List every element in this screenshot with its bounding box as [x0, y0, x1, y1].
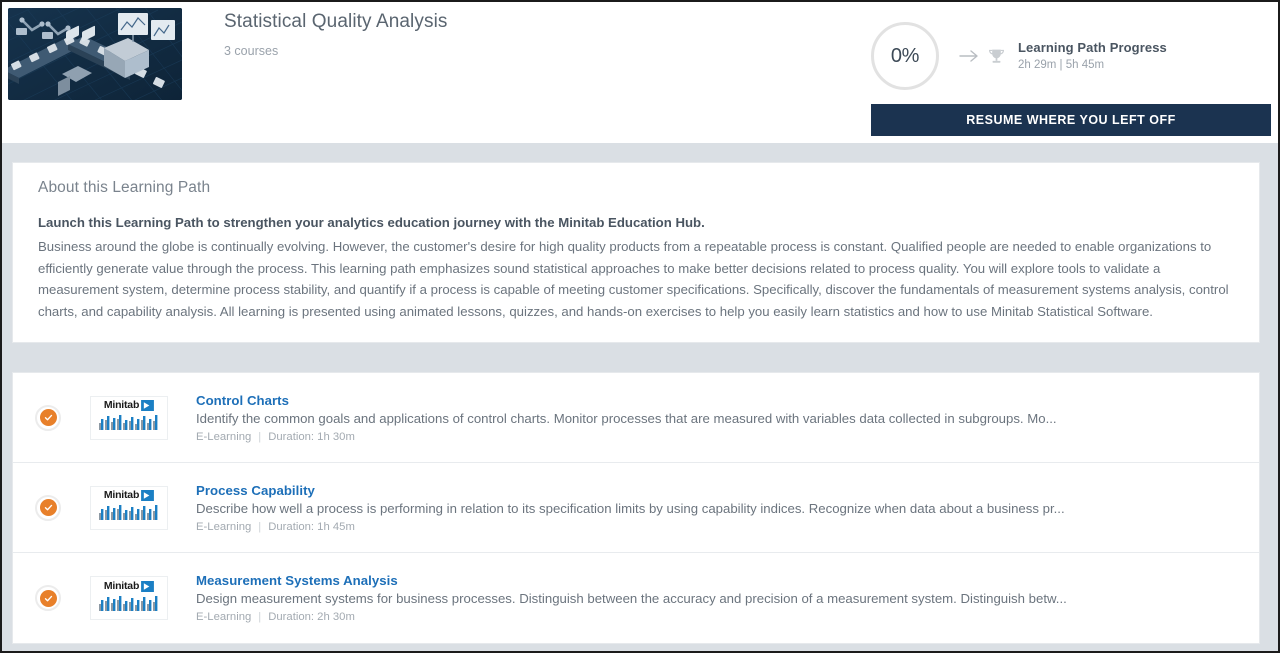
course-meta: E-Learning | Duration: 1h 30m: [196, 431, 1239, 443]
course-list: Minitab: [12, 372, 1260, 644]
course-row[interactable]: Minitab: [13, 373, 1259, 463]
course-title[interactable]: Measurement Systems Analysis: [196, 573, 1239, 588]
progress-time: 2h 29m | 5h 45m: [1018, 58, 1167, 72]
learning-path-progress: 0% Learning Path Progress 2h 29m | 5h 45: [871, 22, 1167, 90]
course-type: E-Learning: [196, 521, 251, 533]
course-duration: Duration: 1h 45m: [268, 521, 355, 533]
course-type: E-Learning: [196, 611, 251, 623]
minitab-wordmark: Minitab: [104, 400, 139, 411]
course-title[interactable]: Control Charts: [196, 393, 1239, 408]
resume-button[interactable]: RESUME WHERE YOU LEFT OFF: [871, 104, 1271, 136]
minitab-wordmark: Minitab: [104, 581, 139, 592]
minitab-bar-graphic: [97, 414, 161, 435]
check-circle-icon: [35, 585, 61, 611]
about-heading: About this Learning Path: [38, 179, 1234, 197]
learning-path-thumbnail: [8, 8, 182, 100]
course-meta: E-Learning | Duration: 1h 45m: [196, 521, 1239, 533]
page-title: Statistical Quality Analysis: [224, 11, 448, 33]
page-header: Statistical Quality Analysis 3 courses 0…: [2, 2, 1278, 143]
meta-separator: |: [258, 431, 261, 443]
minitab-wordmark: Minitab: [104, 490, 139, 501]
minitab-chevron-icon: [141, 490, 154, 501]
progress-ring: 0%: [871, 22, 939, 90]
meta-separator: |: [258, 521, 261, 533]
check-circle-icon: [35, 405, 61, 431]
course-description: Identify the common goals and applicatio…: [196, 411, 1239, 426]
course-meta: E-Learning | Duration: 2h 30m: [196, 611, 1239, 623]
isometric-factory-illustration: [8, 8, 182, 100]
check-circle-icon: [35, 495, 61, 521]
course-row[interactable]: Minitab: [13, 463, 1259, 553]
meta-separator: |: [258, 611, 261, 623]
minitab-bar-graphic: [97, 504, 161, 525]
course-duration: Duration: 1h 30m: [268, 431, 355, 443]
minitab-logo: Minitab: [90, 576, 168, 620]
trophy-icon: [987, 47, 1006, 66]
about-body-text: Business around the globe is continually…: [38, 236, 1234, 322]
course-type: E-Learning: [196, 431, 251, 443]
minitab-chevron-icon: [141, 400, 154, 411]
progress-percent: 0%: [891, 45, 919, 68]
about-learning-path-card: About this Learning Path Launch this Lea…: [12, 162, 1260, 343]
page-body: About this Learning Path Launch this Lea…: [2, 143, 1278, 651]
course-row[interactable]: Minitab: [13, 553, 1259, 643]
course-title[interactable]: Process Capability: [196, 483, 1239, 498]
course-count-label: 3 courses: [224, 44, 278, 58]
course-description: Design measurement systems for business …: [196, 591, 1239, 606]
minitab-bar-graphic: [97, 595, 161, 616]
minitab-chevron-icon: [141, 581, 154, 592]
progress-label: Learning Path Progress: [1018, 40, 1167, 56]
arrow-right-icon: [959, 49, 979, 63]
course-description: Describe how well a process is performin…: [196, 501, 1239, 516]
learning-path-page: Statistical Quality Analysis 3 courses 0…: [0, 0, 1280, 653]
course-duration: Duration: 2h 30m: [268, 611, 355, 623]
about-lead-text: Launch this Learning Path to strengthen …: [38, 213, 1234, 233]
minitab-logo: Minitab: [90, 396, 168, 440]
minitab-logo: Minitab: [90, 486, 168, 530]
